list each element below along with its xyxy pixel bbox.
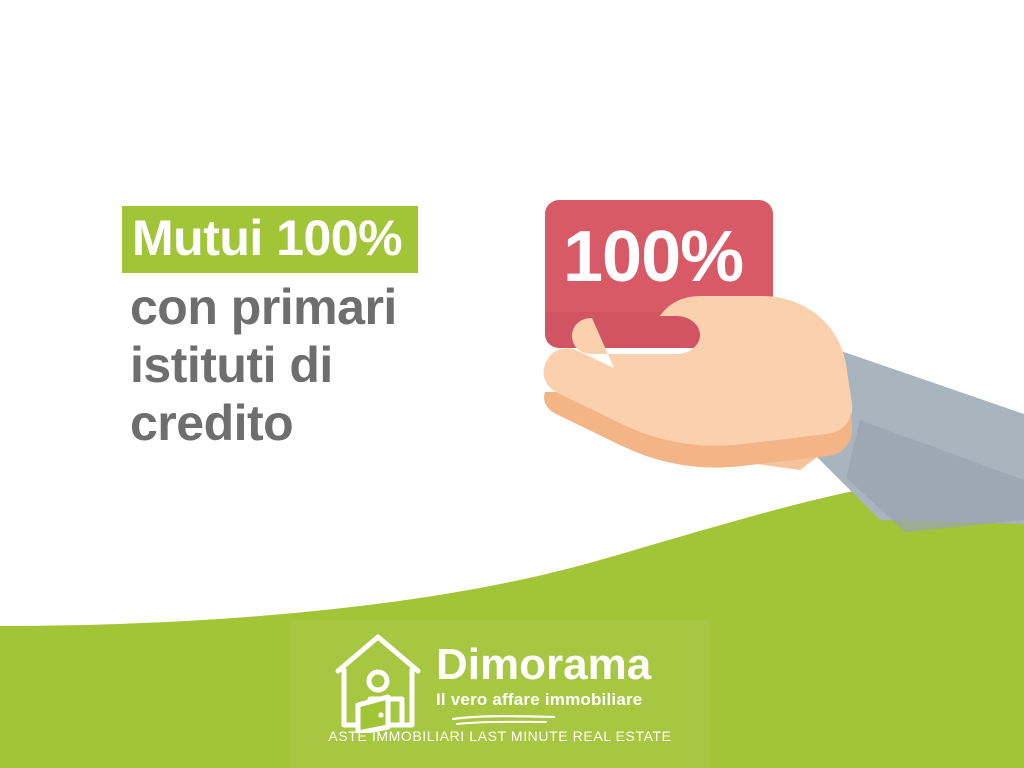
logo-underline-flourish-icon (450, 714, 560, 728)
sleeve-shadow (830, 420, 1024, 560)
headline-line-3: credito (130, 394, 582, 452)
brand-logo[interactable]: Dimorama Il vero affare immobiliare (330, 629, 651, 733)
door-handle-icon (378, 712, 383, 717)
promo-banner: 100% Mutui 100% con primari istituti di … (0, 0, 1024, 768)
house-window-icon (369, 672, 387, 690)
headline-highlight-text: Mutui 100% (132, 214, 402, 262)
sleeve-body (784, 332, 1024, 524)
shirt-sleeve (784, 322, 1024, 560)
headline-highlight-box: Mutui 100% (122, 206, 418, 273)
sleeve-button-icon (805, 397, 831, 423)
card-percentage-label: 100% (563, 219, 783, 295)
brand-name: Dimorama (436, 643, 651, 687)
headline-line-2: istituti di (130, 336, 582, 394)
headline-subtext: con primari istituti di credito (122, 278, 582, 452)
headline-line-1: con primari (130, 278, 582, 336)
sleeve-cuff (784, 322, 812, 436)
logo-wordmark: Dimorama Il vero affare immobiliare (436, 629, 651, 728)
headline-block: Mutui 100% con primari istituti di credi… (122, 206, 582, 452)
brand-footer-services: ASTE IMMOBILIARI LAST MINUTE REAL ESTATE (290, 728, 710, 744)
brand-tagline: Il vero affare immobiliare (436, 690, 642, 710)
hand-shape (544, 296, 853, 446)
house-with-door-icon (330, 629, 426, 733)
hand-underside-shadow (544, 392, 852, 468)
